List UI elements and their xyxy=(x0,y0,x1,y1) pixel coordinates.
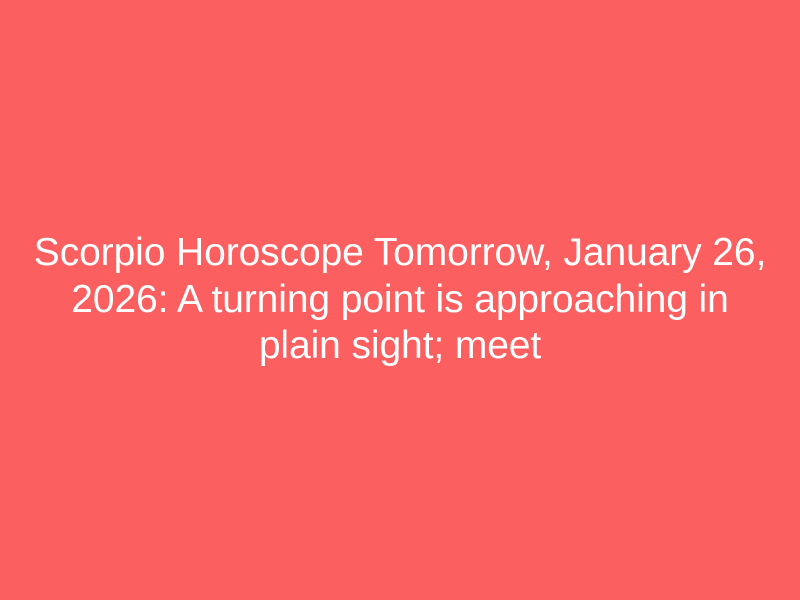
headline-block: Scorpio Horoscope Tomorrow, January 26, … xyxy=(28,230,772,370)
article-thumbnail-card: Scorpio Horoscope Tomorrow, January 26, … xyxy=(0,0,800,600)
headline-text: Scorpio Horoscope Tomorrow, January 26, … xyxy=(32,230,768,370)
